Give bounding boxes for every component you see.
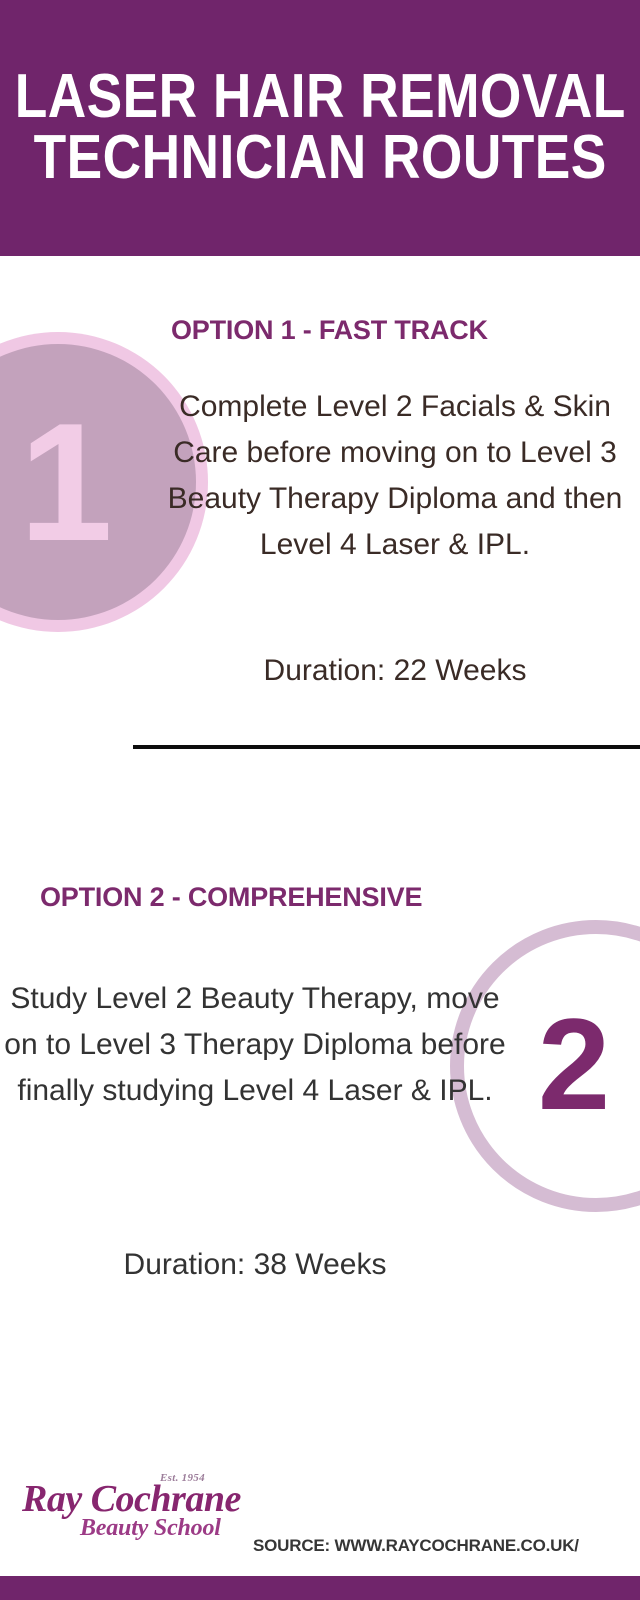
logo-brand-tagline: Beauty School <box>80 1516 221 1540</box>
infographic-canvas: LASER HAIR REMOVAL TECHNICIAN ROUTES 1 O… <box>0 0 640 1600</box>
option-2-section: OPTION 2 - COMPREHENSIVE Study Level 2 B… <box>0 856 640 1326</box>
header-band: LASER HAIR REMOVAL TECHNICIAN ROUTES <box>0 0 640 256</box>
footer-band <box>0 1576 640 1600</box>
option-1-heading: OPTION 1 - FAST TRACK <box>171 315 488 346</box>
option-2-heading: OPTION 2 - COMPREHENSIVE <box>40 882 422 913</box>
option-2-duration: Duration: 38 Weeks <box>0 1248 510 1282</box>
header-title-line-1: LASER HAIR REMOVAL <box>14 67 625 128</box>
option-1-duration: Duration: 22 Weeks <box>150 654 640 688</box>
section-divider <box>133 745 640 749</box>
option-1-description: Complete Level 2 Facials & Skin Care bef… <box>150 384 640 568</box>
logo-brand-name: Ray Cochrane <box>22 1480 241 1518</box>
source-credit: SOURCE: WWW.RAYCOCHRANE.CO.UK/ <box>253 1536 579 1556</box>
option-1-section: OPTION 1 - FAST TRACK Complete Level 2 F… <box>0 256 640 756</box>
header-title-line-2: TECHNICIAN ROUTES <box>33 128 606 189</box>
brand-logo: Est. 1954 Ray Cochrane Beauty School <box>22 1472 262 1544</box>
option-2-description: Study Level 2 Beauty Therapy, move on to… <box>0 976 510 1114</box>
